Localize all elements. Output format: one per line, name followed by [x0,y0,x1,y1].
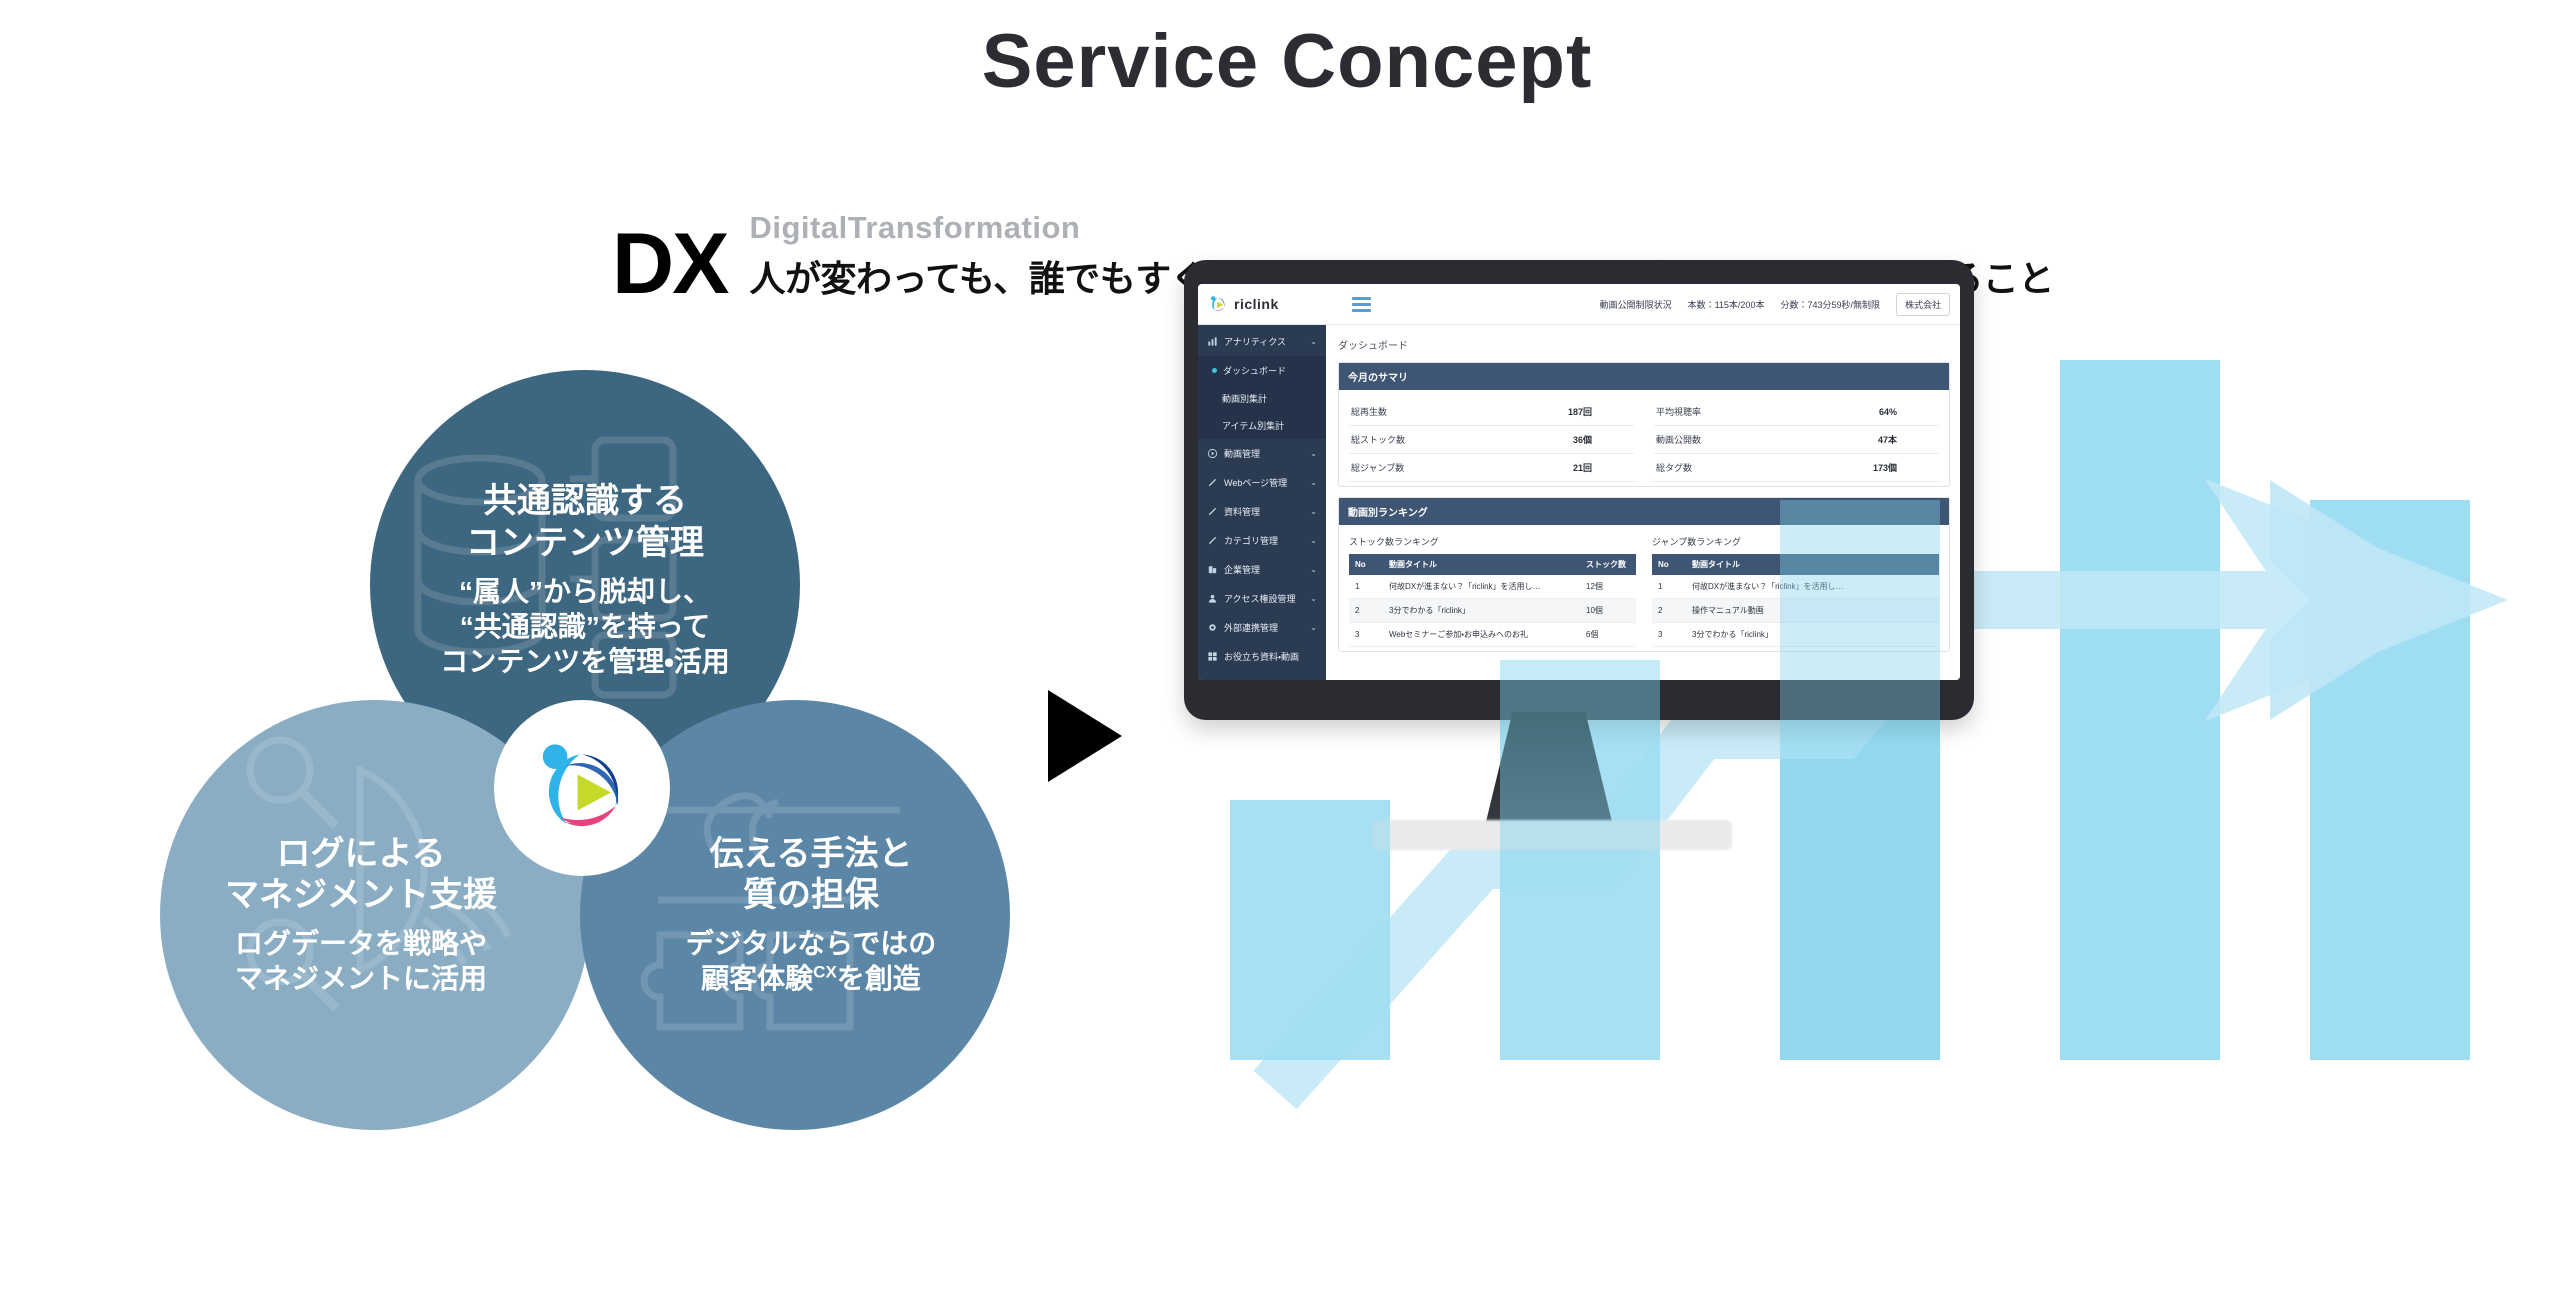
jump-ranking: ジャンプ数ランキング No 動画タイトル [1652,533,1939,647]
circle-left-body-line2: マネジメントに活用 [225,961,497,996]
sidebar-label-document-management: 資料管理 [1224,505,1304,518]
chevron-down-icon: ⌄ [1310,565,1317,574]
user-icon [1207,593,1218,604]
table-header-row: No 動画タイトル [1652,554,1939,575]
cell-title: 何故DXが進まない？「riclink」を活用し… [1383,575,1580,599]
sidebar-label-analytics: アナリティクス [1224,335,1304,348]
circle-right-heading-line1: 伝える手法と [686,834,937,875]
circle-right-heading-line2: 質の担保 [686,875,937,916]
chevron-down-icon: ⌄ [1310,449,1317,458]
hamburger-icon[interactable] [1352,297,1371,312]
jump-ranking-subtitle: ジャンプ数ランキング [1652,535,1939,548]
sidebar-group-analytics: ダッシュボード 動画別集計 アイテム別集計 [1198,356,1326,439]
column-header-title: 動画タイトル [1686,554,1939,575]
circle-top-heading-line2: コンテンツ管理 [440,523,730,564]
summary-column-right: 平均視聴率 64% 動画公開数 47本 [1654,398,1939,482]
riclink-logo-icon [1208,294,1228,314]
monitor-neck [1484,712,1614,830]
kpi-value: 21回 [1573,461,1632,474]
kpi-row: 動画公開数 47本 [1654,426,1939,454]
monitor-bezel: riclink 動画公開制限状況 本数：115本/200本 分数：743分59秒… [1184,260,1974,720]
kpi-key: 平均視聴率 [1656,405,1701,418]
cell-no: 2 [1349,599,1383,623]
limit-minutes: 分数：743分59秒/無制限 [1780,298,1880,311]
sidebar-label-resources: お役立ち資料・動画 [1224,650,1317,663]
dx-subtitle: DigitalTransformation [749,210,2053,246]
table-row[interactable]: 2 3分でわかる「riclink」 10個 [1349,599,1636,623]
dashboard-illustration: riclink 動画公開制限状況 本数：115本/200本 分数：743分59秒… [1180,300,2574,1200]
table-row[interactable]: 1 何故DXが進まない？「riclink」を活用し… [1652,575,1939,599]
cell-no: 2 [1652,599,1686,623]
kpi-value: 47本 [1878,433,1937,446]
kpi-key: 総タグ数 [1656,461,1692,474]
sidebar-label-category-management: カテゴリ管理 [1224,534,1304,547]
grid-icon [1207,651,1218,662]
chevron-down-icon: ⌄ [1310,623,1317,632]
cell-no: 1 [1349,575,1383,599]
kpi-key: 総ジャンプ数 [1351,461,1404,474]
kpi-row: 総タグ数 173個 [1654,454,1939,482]
cell-title: Webセミナーご参加・お申込みへのお礼 [1383,623,1580,647]
stock-ranking: ストック数ランキング No 動画タイトル ストック数 [1349,533,1636,647]
monitor-screen: riclink 動画公開制限状況 本数：115本/200本 分数：743分59秒… [1198,284,1960,680]
sidebar: アナリティクス ⌄ ダッシュボード 動画別集計 アイテム別集計 [1198,325,1326,680]
building-icon [1207,564,1218,575]
ranking-panel-title: 動画別ランキング [1339,498,1949,525]
cx-superscript: CX [813,963,837,982]
circle-top-body-line3: コンテンツを管理・活用 [440,644,730,679]
brand-name: riclink [1234,296,1279,312]
cell-title: 3分でわかる「riclink」 [1383,599,1580,623]
cell-title: 3分でわかる「riclink」 [1686,623,1939,647]
jump-ranking-table: No 動画タイトル 1 [1652,554,1939,647]
cell-count: 12個 [1580,575,1636,599]
venn-diagram: 共通認識する コンテンツ管理 “属人”から脱却し、 “共通認識”を持って コンテ… [130,370,1030,1130]
monitor-base [1372,820,1732,850]
sidebar-item-category-management[interactable]: カテゴリ管理 ⌄ [1198,526,1326,555]
sidebar-item-document-management[interactable]: 資料管理 ⌄ [1198,497,1326,526]
app-brand[interactable]: riclink [1208,294,1336,314]
company-selector[interactable]: 株式会社 [1896,293,1950,316]
sidebar-item-company-management[interactable]: 企業管理 ⌄ [1198,555,1326,584]
cell-count: 10個 [1580,599,1636,623]
service-concept-slide: Service Concept DX DigitalTransformation… [0,0,2574,1304]
sidebar-item-video-stats[interactable]: 動画別集計 [1198,385,1326,412]
limit-count: 本数：115本/200本 [1688,298,1765,311]
sidebar-label-video-management: 動画管理 [1224,447,1304,460]
desktop-monitor: riclink 動画公開制限状況 本数：115本/200本 分数：743分59秒… [1184,260,1984,940]
header-status: 動画公開制限状況 本数：115本/200本 分数：743分59秒/無制限 株式会… [1600,293,1950,316]
circle-top-body-line2: “共通認識”を持って [440,609,730,644]
column-header-count: ストック数 [1580,554,1636,575]
sidebar-item-resources[interactable]: お役立ち資料・動画 [1198,642,1326,671]
riclink-logo-icon [526,732,638,844]
sidebar-label-dashboard: ダッシュボード [1223,364,1317,377]
kpi-key: 動画公開数 [1656,433,1701,446]
cell-count: 6個 [1580,623,1636,647]
cell-title: 操作マニュアル動画 [1686,599,1939,623]
kpi-row: 平均視聴率 64% [1654,398,1939,426]
stock-ranking-table: No 動画タイトル ストック数 [1349,554,1636,647]
video-icon [1207,448,1218,459]
sidebar-item-webpage-management[interactable]: Webページ管理 ⌄ [1198,468,1326,497]
circle-left-heading-line1: ログによる [225,834,497,875]
table-row[interactable]: 2 操作マニュアル動画 [1652,599,1939,623]
cell-title: 何故DXが進まない？「riclink」を活用し… [1686,575,1939,599]
riclink-app: riclink 動画公開制限状況 本数：115本/200本 分数：743分59秒… [1198,284,1960,680]
chevron-down-icon: ⌄ [1310,507,1317,516]
circle-right-body-line2: 顧客体験 [701,963,813,994]
page-title: Service Concept [0,18,2574,105]
column-header-title: 動画タイトル [1383,554,1580,575]
chevron-down-icon: ⌄ [1310,594,1317,603]
sidebar-item-video-management[interactable]: 動画管理 ⌄ [1198,439,1326,468]
table-header-row: No 動画タイトル ストック数 [1349,554,1636,575]
cell-no: 3 [1652,623,1686,647]
circle-left-body-line1: ログデータを戦略や [225,926,497,961]
circle-top-body-line1: “属人”から脱却し、 [440,574,730,609]
summary-panel-title: 今月のサマリ [1339,363,1949,390]
gear-icon [1207,622,1218,633]
limit-label: 動画公開制限状況 [1600,298,1672,311]
dot-icon [1212,368,1217,373]
kpi-key: 総再生数 [1351,405,1387,418]
kpi-value: 187回 [1568,405,1632,418]
column-header-no: No [1652,554,1686,575]
sidebar-item-integration[interactable]: 外部連携管理 ⌄ [1198,613,1326,642]
sidebar-item-analytics[interactable]: アナリティクス ⌄ [1198,327,1326,356]
circle-right-body-line1: デジタルならではの [686,926,937,961]
app-body: アナリティクス ⌄ ダッシュボード 動画別集計 アイテム別集計 [1198,325,1960,680]
main-content: ダッシュボード 今月のサマリ 総再生数 [1326,325,1960,680]
sidebar-item-item-stats[interactable]: アイテム別集計 [1198,412,1326,439]
pencil-icon [1207,535,1218,546]
sidebar-item-access-control[interactable]: アクセス権設管理 ⌄ [1198,584,1326,613]
breadcrumb: ダッシュボード [1338,333,1950,362]
stock-ranking-subtitle: ストック数ランキング [1349,535,1636,548]
play-triangle-icon [1048,690,1122,782]
kpi-row: 総再生数 187回 [1349,398,1634,426]
cell-no: 1 [1652,575,1686,599]
sidebar-label-company-management: 企業管理 [1224,563,1304,576]
app-header: riclink 動画公開制限状況 本数：115本/200本 分数：743分59秒… [1198,284,1960,325]
table-row[interactable]: 3 Webセミナーご参加・お申込みへのお礼 6個 [1349,623,1636,647]
summary-panel: 今月のサマリ 総再生数 187回 [1338,362,1950,487]
column-header-no: No [1349,554,1383,575]
sidebar-label-access-control: アクセス権設管理 [1224,592,1304,605]
summary-column-left: 総再生数 187回 総ストック数 36個 [1349,398,1634,482]
table-row[interactable]: 3 3分でわかる「riclink」 [1652,623,1939,647]
kpi-row: 総ジャンプ数 21回 [1349,454,1634,482]
circle-right-body-line3: を創造 [837,963,921,994]
kpi-value: 36個 [1573,433,1632,446]
sidebar-item-dashboard[interactable]: ダッシュボード [1198,356,1326,385]
circle-left-heading-line2: マネジメント支援 [225,875,497,916]
table-row[interactable]: 1 何故DXが進まない？「riclink」を活用し… 12個 [1349,575,1636,599]
kpi-value: 173個 [1873,461,1937,474]
circle-top-heading-line1: 共通認識する [440,481,730,522]
chevron-down-icon: ⌄ [1310,478,1317,487]
kpi-row: 総ストック数 36個 [1349,426,1634,454]
pencil-icon [1207,477,1218,488]
ranking-panel: 動画別ランキング ストック数ランキング [1338,497,1950,652]
chevron-down-icon: ⌄ [1310,536,1317,545]
dx-mark: DX [612,224,727,306]
chevron-down-icon: ⌄ [1310,337,1317,346]
pencil-icon [1207,506,1218,517]
kpi-value: 64% [1879,407,1937,417]
venn-center-logo [494,700,670,876]
kpi-key: 総ストック数 [1351,433,1405,446]
sidebar-label-webpage-management: Webページ管理 [1224,476,1304,489]
sidebar-label-integration: 外部連携管理 [1224,621,1304,634]
cell-no: 3 [1349,623,1383,647]
chart-icon [1207,336,1218,347]
